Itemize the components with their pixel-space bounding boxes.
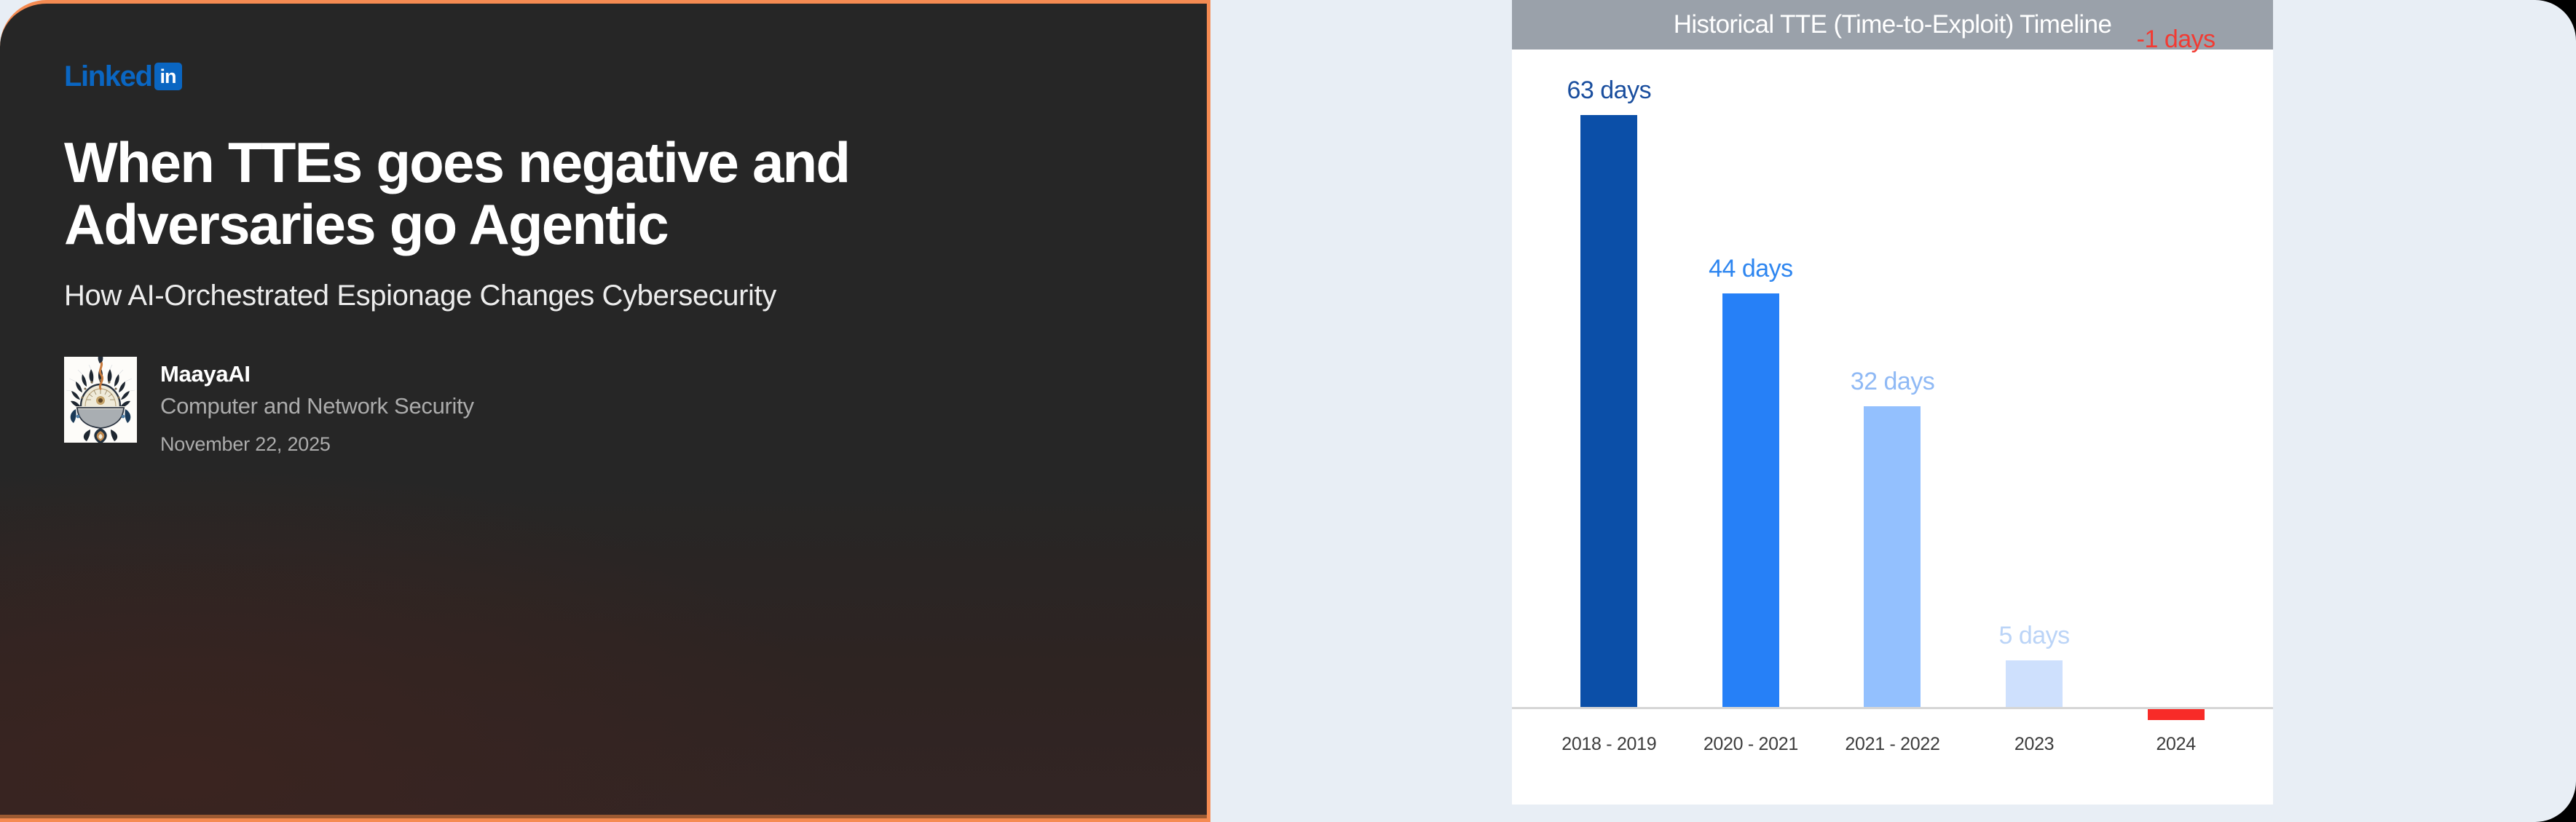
author-meta: MaayaAI Computer and Network Security No… [160,357,474,457]
bar-rect [1864,406,1921,707]
linkedin-logo[interactable]: Linked in [64,60,1207,92]
bar-column: -1 days [2105,50,2247,707]
article-title: When TTEs goes negative and Adversaries … [64,132,1157,256]
author-block[interactable]: MaayaAI Computer and Network Security No… [64,357,1207,457]
author-category: Computer and Network Security [160,392,474,422]
bar-column: 32 days [1821,50,1963,707]
bar-rect [1722,293,1779,707]
chart-panel: Historical TTE (Time-to-Exploit) Timelin… [1512,0,2273,805]
chart-plot-area: 63 days44 days32 days5 days-1 days 2018 … [1512,50,2273,755]
ornate-lamp-emblem-icon [64,357,137,443]
bar-series: 63 days44 days32 days5 days-1 days [1538,50,2247,707]
bar-value-label: 32 days [1821,368,1963,396]
bar-value-label: 63 days [1538,76,1680,105]
linkedin-in-badge-label: in [154,63,182,90]
bar-column: 44 days [1680,50,1822,707]
x-axis-line [1512,707,2273,709]
bar-rect [1580,115,1637,707]
article-subtitle: How AI-Orchestrated Espionage Changes Cy… [64,277,989,315]
linkedin-wordmark: Linked [64,62,152,91]
author-name: MaayaAI [160,360,474,390]
x-tick-label: 2021 - 2022 [1821,734,1963,755]
linkedin-article-card: Linked in When TTEs goes negative and Ad… [0,0,1210,822]
slide-canvas: Linked in When TTEs goes negative and Ad… [0,0,2576,822]
bar-value-label: 44 days [1680,255,1822,283]
x-tick-label: 2018 - 2019 [1538,734,1680,755]
linkedin-in-badge-icon: in [154,63,182,90]
avatar [64,357,137,443]
x-axis-tick-labels: 2018 - 20192020 - 20212021 - 20222023202… [1538,734,2247,755]
publish-date: November 22, 2025 [160,432,474,458]
bar-rect [2006,660,2063,708]
bar-value-label: -1 days [2105,25,2247,54]
bar-column: 5 days [1963,50,2106,707]
bar-column: 63 days [1538,50,1680,707]
chart-title: Historical TTE (Time-to-Exploit) Timelin… [1674,10,2112,39]
x-tick-label: 2023 [1963,734,2106,755]
x-tick-label: 2024 [2105,734,2247,755]
bar-value-label: 5 days [1963,622,2106,650]
x-tick-label: 2020 - 2021 [1680,734,1822,755]
